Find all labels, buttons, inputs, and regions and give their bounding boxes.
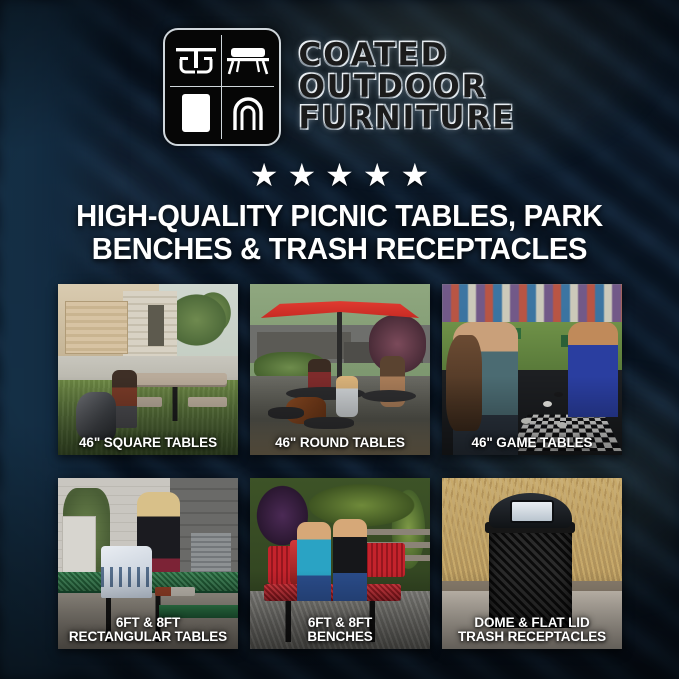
caption-line-1: 46" GAME TABLES [442, 436, 622, 450]
product-caption: 6FT & 8FT RECTANGULAR TABLES [58, 616, 238, 644]
headline-line-2: BENCHES & TRASH RECEPTACLES [20, 232, 658, 265]
wordmark-line-2: OUTDOOR [298, 72, 515, 102]
bike-rack-icon [222, 87, 274, 139]
brand-logo: COATED OUTDOOR FURNITURE [0, 26, 679, 148]
star-rating: ★ ★ ★ ★ ★ [0, 158, 679, 192]
product-caption: 6FT & 8FT BENCHES [250, 616, 430, 644]
picnic-table-icon [170, 35, 222, 87]
wordmark-line-1: COATED [298, 40, 515, 70]
product-grid: 46" SQUARE TABLES [58, 284, 622, 649]
product-tile[interactable]: 46" SQUARE TABLES [58, 284, 238, 455]
caption-line-1: DOME & FLAT LID [442, 616, 622, 630]
wordmark-line-3: FURNITURE [298, 103, 515, 133]
star-icon: ★ [325, 159, 354, 191]
logo-icon-grid [163, 28, 281, 146]
star-icon: ★ [287, 159, 316, 191]
caption-line-2: BENCHES [250, 630, 430, 644]
park-bench-icon [222, 35, 274, 87]
product-caption: 46" SQUARE TABLES [58, 436, 238, 450]
product-tile[interactable]: 6FT & 8FT RECTANGULAR TABLES [58, 478, 238, 649]
product-caption: 46" GAME TABLES [442, 436, 622, 450]
product-caption: 46" ROUND TABLES [250, 436, 430, 450]
caption-line-1: 6FT & 8FT [250, 616, 430, 630]
product-tile[interactable]: 46" ROUND TABLES [250, 284, 430, 455]
caption-line-2: TRASH RECEPTACLES [442, 630, 622, 644]
star-icon: ★ [363, 159, 392, 191]
headline-line-1: HIGH-QUALITY PICNIC TABLES, PARK [20, 199, 658, 232]
caption-line-1: 46" ROUND TABLES [250, 436, 430, 450]
trash-receptacle-icon [170, 87, 222, 139]
page-title: HIGH-QUALITY PICNIC TABLES, PARK BENCHES… [20, 199, 658, 266]
product-tile[interactable]: 46" GAME TABLES [442, 284, 622, 455]
star-icon: ★ [250, 159, 279, 191]
product-poster: COATED OUTDOOR FURNITURE ★ ★ ★ ★ ★ HIGH-… [0, 0, 679, 679]
star-icon: ★ [401, 159, 430, 191]
caption-line-1: 6FT & 8FT [58, 616, 238, 630]
caption-line-2: RECTANGULAR TABLES [58, 630, 238, 644]
product-tile[interactable]: DOME & FLAT LID TRASH RECEPTACLES [442, 478, 622, 649]
product-tile[interactable]: 6FT & 8FT BENCHES [250, 478, 430, 649]
caption-line-1: 46" SQUARE TABLES [58, 436, 238, 450]
brand-wordmark: COATED OUTDOOR FURNITURE [298, 40, 515, 133]
product-caption: DOME & FLAT LID TRASH RECEPTACLES [442, 616, 622, 644]
